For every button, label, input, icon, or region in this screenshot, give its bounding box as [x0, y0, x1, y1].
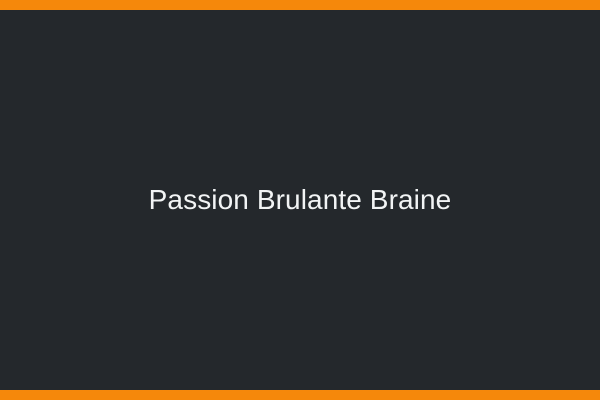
bottom-accent-bar — [0, 390, 600, 400]
placeholder-card: Passion Brulante Braine — [0, 0, 600, 400]
page-title: Passion Brulante Braine — [149, 183, 452, 217]
caption-area: Passion Brulante Braine — [0, 0, 600, 400]
